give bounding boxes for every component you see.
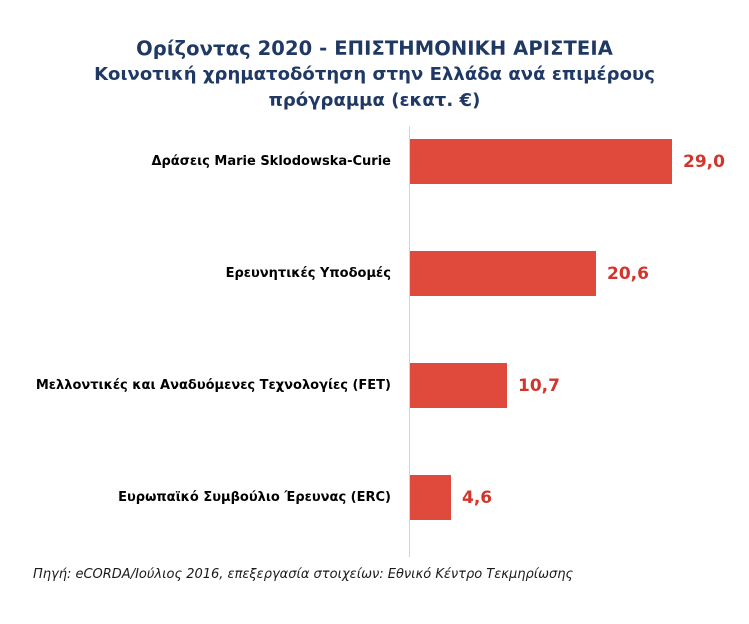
table-row: Δράσεις Marie Sklodowska-Curie 29,0 [0,139,749,184]
category-label-2: Μελλοντικές και Αναδυόμενες Τεχνολογίες … [0,363,400,408]
bar-1[interactable] [410,251,596,296]
plot-area: Δράσεις Marie Sklodowska-Curie 29,0 Ερευ… [0,126,749,560]
chart-title-block: Ορίζοντας 2020 - ΕΠΙΣΤΗΜΟΝΙΚΗ ΑΡΙΣΤΕΙΑ Κ… [60,36,689,114]
chart-container: Ορίζοντας 2020 - ΕΠΙΣΤΗΜΟΝΙΚΗ ΑΡΙΣΤΕΙΑ Κ… [0,0,749,624]
category-label-3: Ευρωπαϊκό Συμβούλιο Έρευνας (ERC) [0,475,400,520]
bar-3[interactable] [410,475,451,520]
table-row: Ευρωπαϊκό Συμβούλιο Έρευνας (ERC) 4,6 [0,475,749,520]
chart-subtitle: Κοινοτική χρηματοδότηση στην Ελλάδα ανά … [60,62,689,114]
value-label-1: 20,6 [596,251,649,296]
chart-title: Ορίζοντας 2020 - ΕΠΙΣΤΗΜΟΝΙΚΗ ΑΡΙΣΤΕΙΑ [60,36,689,62]
value-label-0: 29,0 [672,139,725,184]
table-row: Μελλοντικές και Αναδυόμενες Τεχνολογίες … [0,363,749,408]
category-label-0: Δράσεις Marie Sklodowska-Curie [0,139,400,184]
bar-0[interactable] [410,139,672,184]
value-label-2: 10,7 [507,363,560,408]
value-label-3: 4,6 [451,475,492,520]
category-label-1: Ερευνητικές Υποδομές [0,251,400,296]
bar-2[interactable] [410,363,507,408]
table-row: Ερευνητικές Υποδομές 20,6 [0,251,749,296]
source-note: Πηγή: eCORDA/Ιούλιος 2016, επεξεργασία σ… [33,567,573,582]
